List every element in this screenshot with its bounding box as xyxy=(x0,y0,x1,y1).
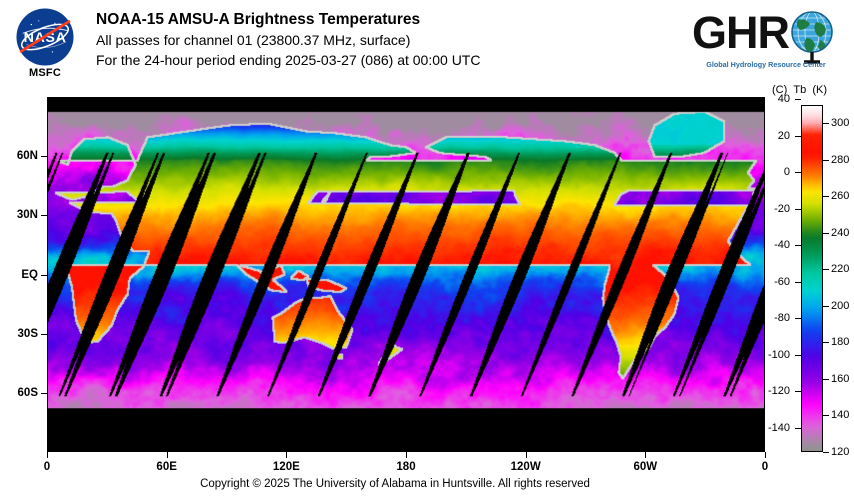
lon-tick xyxy=(526,452,527,458)
colorbar-tick-celsius xyxy=(795,245,801,246)
colorbar-label-celsius: -60 xyxy=(0,276,790,288)
colorbar-tick-kelvin xyxy=(823,269,829,270)
page-title: NOAA-15 AMSU-A Brightness Temperatures xyxy=(96,10,480,30)
colorbar-variable: Tb xyxy=(793,84,806,96)
colorbar-label-kelvin: 260 xyxy=(831,190,849,202)
colorbar-label-celsius: -40 xyxy=(0,239,790,251)
colorbar-tick-kelvin xyxy=(823,160,829,161)
subtitle-channel: All passes for channel 01 (23800.37 MHz,… xyxy=(96,30,480,50)
colorbar-label-kelvin: 180 xyxy=(831,336,849,348)
lat-tick xyxy=(41,334,47,335)
colorbar[interactable] xyxy=(801,105,823,452)
lon-label: 120E xyxy=(273,461,300,473)
colorbar-gradient xyxy=(802,106,822,451)
colorbar-tick-kelvin xyxy=(823,342,829,343)
lon-label: 60E xyxy=(156,461,176,473)
colorbar-label-celsius: -140 xyxy=(0,422,790,434)
colorbar-tick-kelvin xyxy=(823,233,829,234)
colorbar-label-kelvin: 300 xyxy=(831,117,849,129)
colorbar-label-kelvin: 160 xyxy=(831,373,849,385)
colorbar-tick-kelvin xyxy=(823,452,829,453)
colorbar-tick-celsius xyxy=(795,391,801,392)
colorbar-label-celsius: 20 xyxy=(0,130,790,142)
colorbar-tick-kelvin xyxy=(823,379,829,380)
colorbar-tick-kelvin xyxy=(823,123,829,124)
lat-label: 60N xyxy=(17,150,38,162)
colorbar-tick-kelvin xyxy=(823,196,829,197)
lon-tick xyxy=(645,452,646,458)
colorbar-label-celsius: -100 xyxy=(0,349,790,361)
map-axes: 60N30NEQ30S60S060E120E180120W60W0 xyxy=(47,97,765,452)
colorbar-tick-kelvin xyxy=(823,306,829,307)
lat-label: 30S xyxy=(18,328,38,340)
colorbar-label-kelvin: 120 xyxy=(831,446,849,458)
colorbar-tick-celsius xyxy=(795,172,801,173)
colorbar-tick-kelvin xyxy=(823,415,829,416)
lon-label: 120W xyxy=(511,461,541,473)
colorbar-tick-celsius xyxy=(795,318,801,319)
colorbar-label-kelvin: 280 xyxy=(831,154,849,166)
colorbar-label-celsius: -120 xyxy=(0,385,790,397)
lat-tick xyxy=(41,156,47,157)
colorbar-label-celsius: 40 xyxy=(0,93,790,105)
colorbar-label-kelvin: 220 xyxy=(831,263,849,275)
colorbar-label-kelvin: 200 xyxy=(831,300,849,312)
colorbar-label-celsius: -20 xyxy=(0,203,790,215)
colorbar-tick-celsius xyxy=(795,99,801,100)
lat-tick xyxy=(41,215,47,216)
lon-label: 180 xyxy=(396,461,415,473)
colorbar-label-celsius: 0 xyxy=(0,166,790,178)
colorbar-tick-celsius xyxy=(795,282,801,283)
lon-label: 60W xyxy=(634,461,658,473)
colorbar-label-kelvin: 140 xyxy=(831,409,849,421)
colorbar-label-kelvin: 240 xyxy=(831,227,849,239)
colorbar-tick-celsius xyxy=(795,209,801,210)
lon-label: 0 xyxy=(44,461,50,473)
copyright-notice: Copyright © 2025 The University of Alaba… xyxy=(0,478,790,490)
title-block: NOAA-15 AMSU-A Brightness Temperatures A… xyxy=(96,10,480,70)
nasa-logo: NASA xyxy=(14,6,76,68)
lon-tick xyxy=(765,452,766,458)
colorbar-tick-celsius xyxy=(795,136,801,137)
subtitle-period: For the 24-hour period ending 2025-03-27… xyxy=(96,50,480,70)
colorbar-tick-celsius xyxy=(795,428,801,429)
colorbar-label-celsius: -80 xyxy=(0,312,790,324)
ghrc-logo-subtitle: Global Hydrology Resource Center xyxy=(690,60,842,69)
lon-tick xyxy=(406,452,407,458)
lon-tick xyxy=(167,452,168,458)
svg-text:GHR: GHR xyxy=(692,7,790,58)
colorbar-units-kelvin: (K) xyxy=(812,84,827,96)
lon-tick xyxy=(47,452,48,458)
colorbar-tick-celsius xyxy=(795,355,801,356)
lon-label: 0 xyxy=(762,461,768,473)
lon-tick xyxy=(286,452,287,458)
nasa-center-label: MSFC xyxy=(14,67,76,79)
